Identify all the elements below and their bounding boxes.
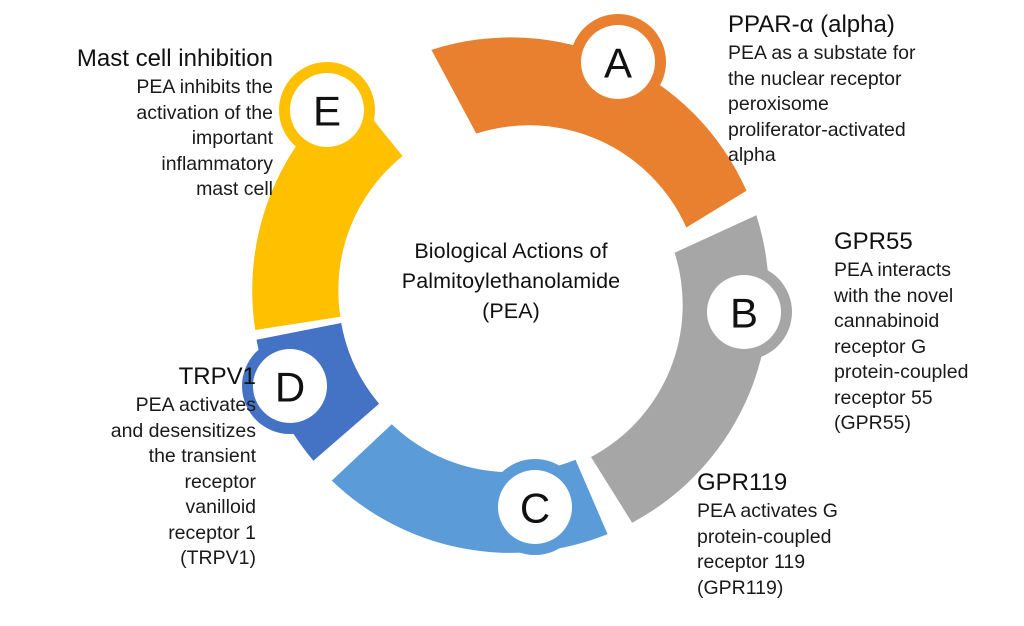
diagram-canvas: A B C D E Biol	[0, 0, 1024, 626]
badge-gpr55[interactable]: B	[696, 264, 792, 360]
callout-body-trpv1: PEA activates and desensitizes the trans…	[14, 393, 256, 572]
center-title-line-3: (PEA)	[358, 296, 664, 326]
callout-body-gpr119: PEA activates G protein-coupled receptor…	[697, 499, 977, 601]
callout-gpr55: GPR55 PEA interacts with the novel canna…	[834, 227, 1024, 437]
callout-mast: Mast cell inhibition PEA inhibits the ac…	[0, 44, 273, 203]
callout-body-mast: PEA inhibits the activation of the impor…	[0, 75, 273, 203]
badge-trpv1[interactable]: D	[242, 338, 338, 434]
callout-title-ppar: PPAR-α (alpha)	[728, 10, 1024, 40]
badge-ppar[interactable]: A	[570, 14, 666, 110]
callout-body-gpr55: PEA interacts with the novel cannabinoid…	[834, 258, 1024, 437]
callout-ppar: PPAR-α (alpha) PEA as a substate for the…	[728, 10, 1024, 169]
callout-title-gpr55: GPR55	[834, 227, 1024, 257]
badge-letter-trpv1: D	[275, 364, 305, 411]
center-title: Biological Actions of Palmitoylethanolam…	[358, 236, 664, 326]
center-title-line-2: Palmitoylethanolamide	[358, 266, 664, 296]
badge-letter-gpr119: C	[520, 485, 550, 532]
callout-gpr119: GPR119 PEA activates G protein-coupled r…	[697, 468, 977, 601]
callout-body-ppar: PEA as a substate for the nuclear recept…	[728, 41, 1024, 169]
badge-mast[interactable]: E	[279, 62, 375, 158]
badge-letter-ppar: A	[604, 40, 632, 87]
callout-title-mast: Mast cell inhibition	[0, 44, 273, 74]
badge-gpr119[interactable]: C	[487, 459, 583, 555]
center-title-line-1: Biological Actions of	[358, 236, 664, 266]
callout-trpv1: TRPV1 PEA activates and desensitizes the…	[14, 362, 256, 572]
badge-letter-gpr55: B	[730, 290, 758, 337]
badge-letter-mast: E	[313, 88, 341, 135]
callout-title-gpr119: GPR119	[697, 468, 977, 498]
callout-title-trpv1: TRPV1	[14, 362, 256, 392]
